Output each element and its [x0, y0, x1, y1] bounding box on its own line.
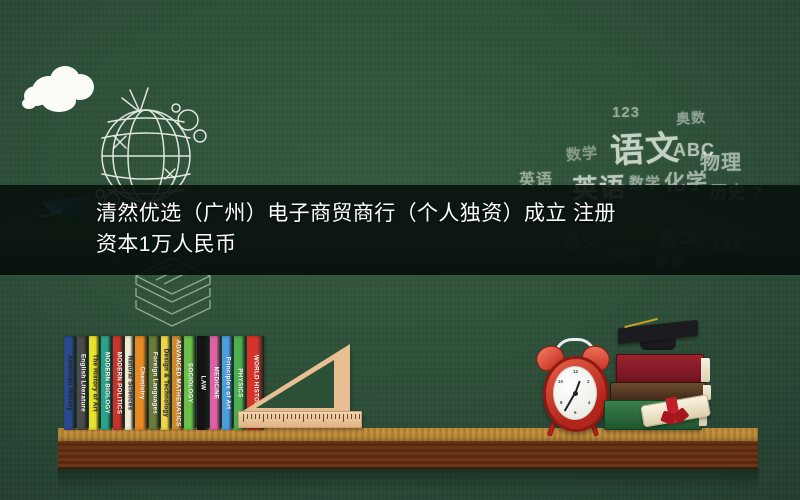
book-spine: SOCIOLOGY — [184, 336, 196, 430]
book-spine: MODERN BIOLOGY — [101, 336, 112, 430]
book-spine: Principles of Art — [222, 336, 233, 430]
book-spine: English Literature — [77, 336, 88, 430]
graduation-cap-icon — [618, 318, 698, 352]
book-spine: Natural Sciences — [125, 336, 134, 430]
book-title: English Literature — [79, 354, 86, 412]
book-spine: Chemistry — [135, 336, 148, 430]
book-spine: Design & Technology — [161, 336, 171, 430]
book-title: MEDICINE — [212, 367, 219, 400]
book-title: Natural Sciences — [126, 356, 133, 411]
book-spine: LAW — [197, 336, 209, 430]
alarm-clock-icon: 12 2 4 6 8 10 — [537, 340, 609, 432]
chalk-word: 123 — [612, 104, 640, 121]
book-title: Foreign Languages — [151, 352, 158, 414]
shelf-front-edge — [58, 441, 758, 469]
book-spine: MEDICINE — [210, 336, 221, 430]
book-title: Principles of Art — [224, 357, 231, 410]
book-title: American History — [67, 355, 74, 411]
chalk-word: 语文 — [609, 120, 681, 173]
page-title: 清然优选（广州）电子商贸商行（个人独资）成立 注册 资本1万人民币 — [96, 198, 746, 260]
book-spine: MODERN POLITICS — [113, 336, 124, 430]
book-title: SOCIOLOGY — [187, 363, 194, 403]
shelf-top-surface — [58, 428, 758, 442]
book-spine: American History — [64, 336, 76, 430]
book-spine: ADVANCED MATHEMATICS — [172, 336, 183, 430]
page-title-line-1: 清然优选（广州）电子商贸商行（个人独资）成立 注册 — [96, 198, 746, 229]
screenshot-stage: 123奥数语文ABC数学物理英语英语数学化学历史 ?语文数学123物理英语 Am… — [0, 0, 800, 500]
book-row: American HistoryEnglish LiteratureThe Hi… — [64, 330, 265, 430]
book-title: MODERN BIOLOGY — [103, 352, 110, 414]
chalk-word: 奥数 — [675, 107, 706, 129]
shelf-shadow — [58, 469, 758, 491]
book-title: LAW — [200, 376, 207, 391]
triangle-ruler-icon — [238, 338, 363, 430]
book-title: The History of Art — [91, 354, 98, 411]
book-title: ADVANCED MATHEMATICS — [174, 339, 181, 426]
page-title-line-2: 资本1万人民币 — [96, 229, 746, 260]
book-title: Chemistry — [138, 367, 145, 400]
book-spine: The History of Art — [89, 336, 100, 430]
book-title: MODERN POLITICS — [115, 352, 122, 414]
book-spine: Foreign Languages — [149, 336, 160, 430]
chalk-word: 数学 — [565, 142, 599, 166]
wooden-shelf — [58, 428, 758, 470]
book-title: Design & Technology — [163, 349, 170, 418]
